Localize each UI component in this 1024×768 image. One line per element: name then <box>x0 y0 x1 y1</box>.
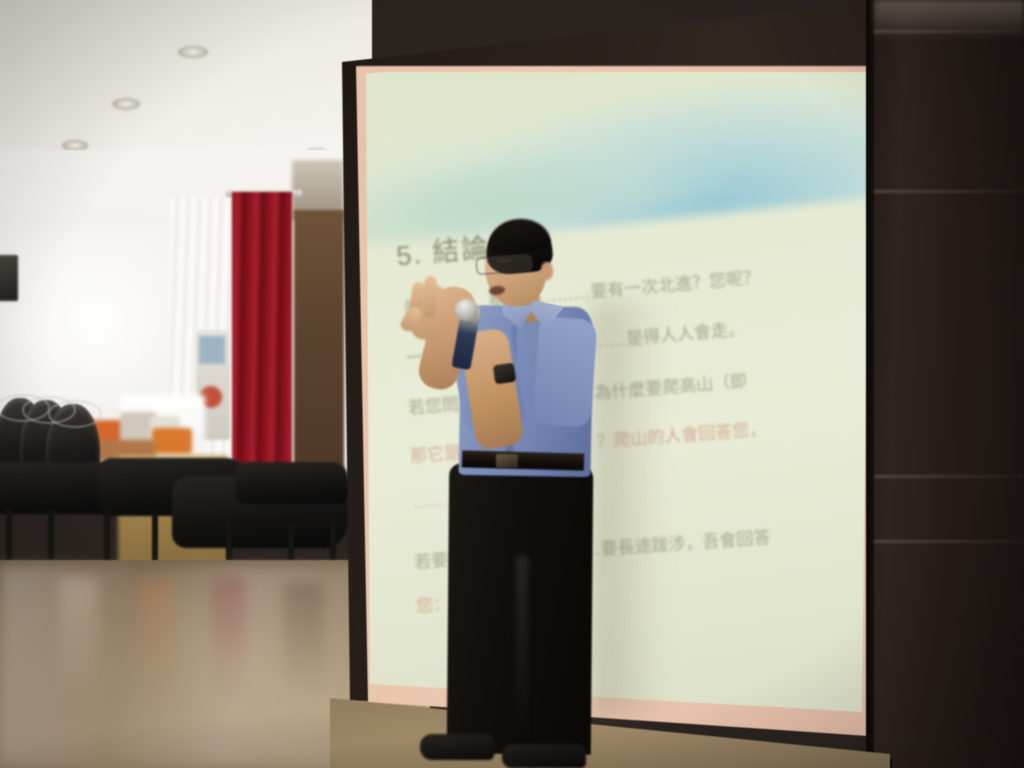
floor-reflection <box>284 582 324 702</box>
trouser-crease <box>516 556 528 746</box>
timpani-rim <box>48 400 102 428</box>
wristwatch <box>493 363 516 385</box>
presenter-right-sleeve <box>532 316 597 428</box>
presenter-shoe <box>420 734 494 760</box>
presenter-ear <box>541 262 553 280</box>
presenter-shadow-on-screen <box>592 300 664 720</box>
belt-buckle <box>496 454 518 468</box>
floor-reflection <box>212 578 246 703</box>
presentation-photo: 5. 結論 的那有年，都是…………要有一次北進？您呢？ 一年一年，人………………… <box>0 0 1024 768</box>
covered-marimba <box>236 462 348 504</box>
recessed-ceiling-light <box>112 98 140 110</box>
floor-reflection <box>140 580 174 710</box>
table-clutter <box>152 428 192 454</box>
presenter-shoe <box>502 744 586 768</box>
presenter-finger <box>423 276 436 318</box>
recessed-ceiling-light <box>178 46 208 58</box>
water-cooler-label <box>199 336 225 364</box>
wall-speaker <box>0 255 18 301</box>
presenter-belt <box>462 450 584 470</box>
wall-top-highlight <box>874 0 1024 40</box>
right-wood-wall <box>874 0 1024 768</box>
floor-reflection <box>60 578 98 698</box>
red-stage-curtain <box>232 192 292 508</box>
